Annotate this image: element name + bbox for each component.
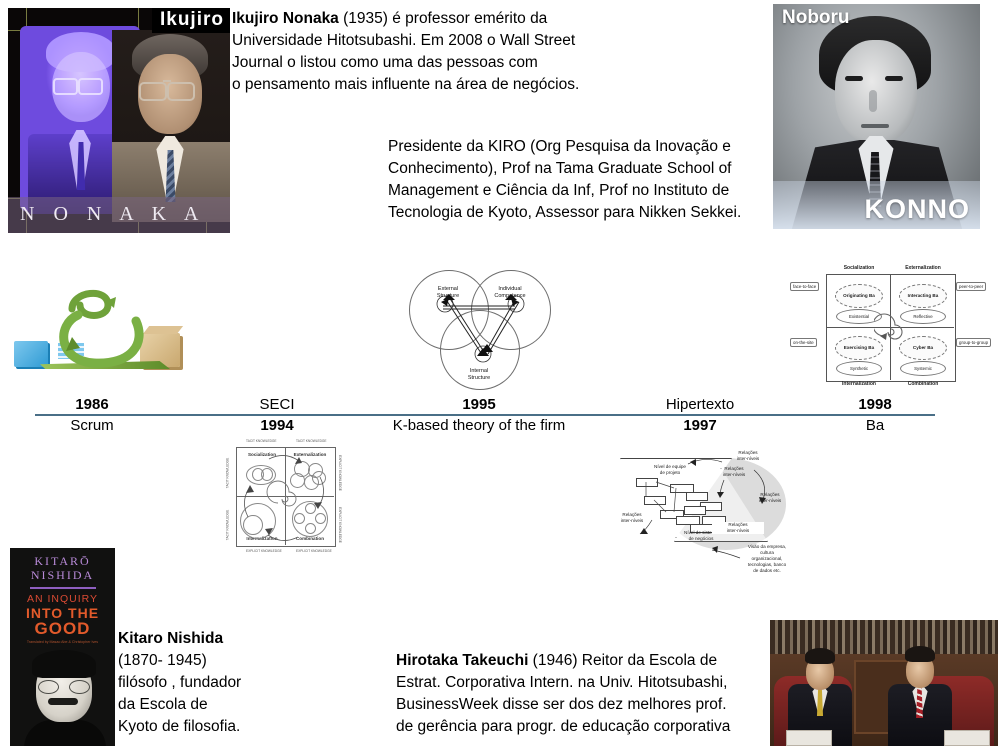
book-author: KITARŌ NISHIDA bbox=[10, 554, 115, 582]
ba-quadrant-externalization: Externalization bbox=[892, 265, 954, 271]
konno-bio-line-3: Management e Ciência da Inf, Prof no Ins… bbox=[388, 180, 788, 202]
seci-model-diagram: TACIT KNOWLEDGE TACIT KNOWLEDGE EXPLICIT… bbox=[224, 437, 346, 559]
nonaka-photo: N O N A K A Ikujiro bbox=[8, 8, 230, 233]
scrum-backlog-icon bbox=[14, 341, 48, 367]
ba-spiral-icon bbox=[874, 312, 908, 346]
book-author-line2: NISHIDA bbox=[31, 568, 94, 582]
konno-surname-caption: KONNO bbox=[865, 194, 971, 225]
seci-spiral-and-arrows bbox=[224, 437, 346, 559]
knowledge-based-theory-venn-diagram: ExternalStructure IndividualCompetence I… bbox=[403, 268, 558, 390]
nishida-book-cover: KITARŌ NISHIDA AN INQUIRY INTO THE GOOD … bbox=[10, 548, 115, 746]
takeuchi-bio-line-3: BusinessWeek disse ser dos dez melhores … bbox=[396, 694, 776, 716]
nonaka-firstname-tag: Ikujiro bbox=[152, 8, 230, 33]
nonaka-bio-text: Ikujiro Nonaka (1935) é professor emérit… bbox=[232, 8, 777, 96]
nishida-bio-line-5: Kyoto de filosofia. bbox=[118, 716, 378, 738]
konno-bio-line-1: Presidente da KIRO (Org Pesquisa da Inov… bbox=[388, 136, 788, 158]
hypertext-label-relations-4: Relaçõesinter-níveis bbox=[606, 512, 658, 524]
nishida-portrait bbox=[16, 650, 112, 746]
ba-oval-systemic: Systemic bbox=[900, 361, 946, 376]
book-translator: Translated by Masao Abe & Christopher Iv… bbox=[10, 640, 115, 644]
hypertext-label-relations-2: Relaçõesinter-níveis bbox=[708, 466, 760, 478]
konno-bio-line-2: Conhecimento), Prof na Tama Graduate Sch… bbox=[388, 158, 788, 180]
nonaka-bio-name: Ikujiro Nonaka bbox=[232, 10, 339, 27]
venn-label-external-structure: ExternalStructure bbox=[418, 286, 478, 300]
hypertext-label-relations-3: Relaçõesinter-níveis bbox=[744, 492, 796, 504]
book-title-line3: GOOD bbox=[10, 621, 115, 636]
ba-cloud-interacting: Interacting Ba bbox=[899, 284, 947, 308]
takeuchi-nonaka-photo bbox=[770, 620, 998, 746]
nishida-bio-line-4: da Escola de bbox=[118, 694, 378, 716]
takeuchi-bio-name: Hirotaka Takeuchi bbox=[396, 652, 528, 669]
venn-label-individual-competence: IndividualCompetence bbox=[480, 286, 540, 300]
book-author-line1: KITARŌ bbox=[34, 554, 90, 568]
nonaka-bio-line-3: Journal o listou como uma das pessoas co… bbox=[232, 52, 777, 74]
konno-photo: KONNO Noboru bbox=[773, 4, 980, 229]
ba-tag-group-to-group: group-to-group bbox=[956, 338, 991, 347]
ba-cloud-originating: Originating Ba bbox=[835, 284, 883, 308]
timeline-above-1998: 1998 bbox=[735, 396, 1002, 413]
ba-matrix-diagram: Socialization Externalization Internaliz… bbox=[790, 262, 990, 388]
takeuchi-bio-line-1-rest: (1946) Reitor da Escola de bbox=[528, 652, 717, 669]
nonaka-portrait-photo bbox=[112, 30, 230, 220]
scrum-loop-arrows bbox=[50, 285, 170, 375]
ba-oval-synthetic: Synthetic bbox=[836, 361, 882, 376]
nishida-bio-line-2: (1870- 1945) bbox=[118, 650, 378, 672]
timeline-below-ba: Ba bbox=[735, 417, 1002, 434]
takeuchi-bio-line-2: Estrat. Corporativa Intern. na Univ. Hit… bbox=[396, 672, 776, 694]
nishida-bio-text: Kitaro Nishida (1870- 1945) filósofo , f… bbox=[118, 628, 378, 738]
nonaka-name-band: N O N A K A bbox=[8, 197, 230, 233]
nonaka-surname-caption: N O N A K A bbox=[8, 197, 230, 226]
ba-tag-face-to-face: face-to-face bbox=[790, 282, 819, 291]
nonaka-bio-line-2: Universidade Hitotsubashi. Em 2008 o Wal… bbox=[232, 30, 777, 52]
hypertext-label-project-team: Nível de equipede projeto bbox=[632, 464, 708, 476]
venn-label-internal-structure: InternalStructure bbox=[449, 368, 509, 382]
timeline-axis bbox=[35, 414, 935, 416]
book-divider-rule bbox=[30, 587, 96, 589]
hypertext-label-relations-1: Relaçõesinter-níveis bbox=[720, 450, 776, 462]
ba-quadrant-combination: Combination bbox=[892, 381, 954, 387]
takeuchi-bio-text: Hirotaka Takeuchi (1946) Reitor da Escol… bbox=[396, 650, 776, 738]
scrum-diagram bbox=[10, 285, 185, 385]
konno-firstname-tag: Noboru bbox=[782, 7, 850, 29]
hypertext-label-relations-5: Relaçõesinter-níveis bbox=[712, 522, 764, 534]
nonaka-bio-line-1-rest: (1935) é professor emérito da bbox=[339, 10, 548, 27]
konno-bio-text: Presidente da KIRO (Org Pesquisa da Inov… bbox=[388, 136, 788, 224]
ba-tag-peer-to-peer: peer-to-peer bbox=[956, 282, 986, 291]
konno-bio-line-4: Tecnologia de Kyoto, Assessor para Nikke… bbox=[388, 202, 788, 224]
takeuchi-bio-line-4: de gerência para progr. de educação corp… bbox=[396, 716, 776, 738]
ba-tag-on-the-site: on-the-site bbox=[790, 338, 817, 347]
ba-quadrant-socialization: Socialization bbox=[828, 265, 890, 271]
nonaka-bio-line-4: o pensamento mais influente na área de n… bbox=[232, 74, 777, 96]
nishida-bio-line-3: filósofo , fundador bbox=[118, 672, 378, 694]
hypertext-label-knowledge-base: Visão da empresa,culturaorganizacional,t… bbox=[738, 544, 796, 574]
hypertext-organization-diagram: Nível de equipede projeto Nível de siste… bbox=[604, 434, 796, 578]
ba-quadrant-internalization: Internalization bbox=[828, 381, 890, 387]
nishida-bio-name: Kitaro Nishida bbox=[118, 630, 223, 647]
